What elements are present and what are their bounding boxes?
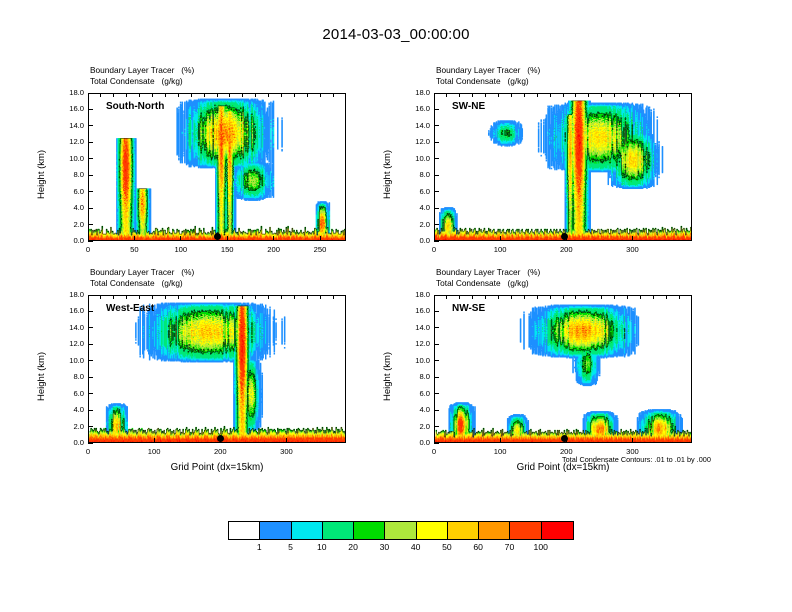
x-minor-tick-mark <box>307 295 308 299</box>
x-minor-tick-mark <box>601 93 602 97</box>
y-tick-label: 6.0 <box>400 389 430 398</box>
colorbar-cell <box>510 522 541 539</box>
x-minor-tick-mark <box>627 93 628 97</box>
center-point-marker-south-north <box>214 233 221 240</box>
x-minor-tick-mark <box>178 295 179 299</box>
x-minor-tick-mark <box>320 295 321 299</box>
x-tick-mark <box>134 236 135 241</box>
field-canvas-west-east <box>89 296 346 443</box>
plot-area-nw-se <box>434 295 692 443</box>
colorbar-cell <box>354 522 385 539</box>
x-minor-tick-mark <box>165 93 166 97</box>
x-minor-tick-mark <box>640 93 641 97</box>
x-minor-tick-mark <box>653 93 654 97</box>
x-minor-tick-mark <box>524 93 525 97</box>
colorbar-cell <box>229 522 260 539</box>
y-tick-mark <box>434 125 439 126</box>
x-minor-tick-mark <box>614 93 615 97</box>
header-tracer-line: Boundary Layer Tracer (%) <box>436 267 540 278</box>
y-tick-mark <box>88 109 93 110</box>
x-tick-label: 100 <box>161 245 201 254</box>
x-tick-mark <box>632 438 633 443</box>
x-minor-tick-mark <box>563 93 564 97</box>
x-minor-tick-mark <box>100 295 101 299</box>
x-minor-tick-mark <box>204 93 205 97</box>
x-minor-tick-mark <box>498 295 499 299</box>
y-tick-mark <box>88 410 93 411</box>
x-minor-tick-mark <box>537 295 538 299</box>
y-tick-mark <box>88 93 93 94</box>
x-minor-tick-mark <box>537 93 538 97</box>
x-minor-tick-mark <box>472 93 473 97</box>
x-minor-tick-mark <box>472 295 473 299</box>
x-minor-tick-mark <box>255 295 256 299</box>
x-minor-tick-mark <box>679 295 680 299</box>
x-tick-label: 150 <box>207 245 247 254</box>
center-point-marker-west-east <box>217 435 224 442</box>
y-tick-label: 6.0 <box>54 389 84 398</box>
contour-note: Total Condensate Contours: .01 to .01 by… <box>562 455 711 464</box>
x-minor-tick-mark <box>217 295 218 299</box>
colorbar-cell <box>417 522 448 539</box>
y-tick-mark <box>434 142 439 143</box>
y-tick-label: 12.0 <box>54 137 84 146</box>
y-tick-label: 4.0 <box>54 405 84 414</box>
x-tick-label: 50 <box>114 245 154 254</box>
x-tick-mark <box>566 236 567 241</box>
y-tick-mark <box>434 93 439 94</box>
y-tick-mark <box>434 175 439 176</box>
x-minor-tick-mark <box>229 295 230 299</box>
y-tick-label: 6.0 <box>400 187 430 196</box>
y-tick-label: 16.0 <box>400 104 430 113</box>
colorbar-cell <box>448 522 479 539</box>
panel-header-west-east: Boundary Layer Tracer (%)Total Condensat… <box>90 267 194 288</box>
x-minor-tick-mark <box>165 295 166 299</box>
x-minor-tick-mark <box>268 295 269 299</box>
y-tick-mark <box>434 295 439 296</box>
x-tick-label: 0 <box>68 447 108 456</box>
x-tick-mark <box>220 438 221 443</box>
header-tracer-line: Boundary Layer Tracer (%) <box>90 267 194 278</box>
colorbar-tick-label: 100 <box>521 542 561 552</box>
y-tick-label: 2.0 <box>400 422 430 431</box>
y-tick-label: 10.0 <box>54 154 84 163</box>
x-minor-tick-mark <box>575 295 576 299</box>
x-tick-mark <box>88 438 89 443</box>
y-tick-mark <box>88 393 93 394</box>
x-minor-tick-mark <box>601 295 602 299</box>
y-tick-label: 18.0 <box>400 290 430 299</box>
x-tick-mark <box>434 236 435 241</box>
x-minor-tick-mark <box>139 295 140 299</box>
x-axis-title: Grid Point (dx=15km) <box>88 462 346 473</box>
y-tick-label: 10.0 <box>400 356 430 365</box>
y-tick-label: 0.0 <box>54 438 84 447</box>
y-tick-mark <box>88 327 93 328</box>
colorbar-cell <box>479 522 510 539</box>
header-tracer-line: Boundary Layer Tracer (%) <box>90 65 194 76</box>
x-minor-tick-mark <box>614 295 615 299</box>
direction-label-west-east: West-East <box>106 303 154 314</box>
x-minor-tick-mark <box>485 295 486 299</box>
x-minor-tick-mark <box>446 295 447 299</box>
x-tick-label: 100 <box>480 447 520 456</box>
x-minor-tick-mark <box>255 93 256 97</box>
y-tick-label: 18.0 <box>54 88 84 97</box>
x-minor-tick-mark <box>459 295 460 299</box>
x-minor-tick-mark <box>588 295 589 299</box>
y-tick-mark <box>88 443 93 444</box>
x-minor-tick-mark <box>679 93 680 97</box>
x-tick-mark <box>286 438 287 443</box>
y-tick-mark <box>88 191 93 192</box>
header-condensate-line: Total Condensate (g/kg) <box>90 76 194 87</box>
colorbar-cell <box>542 522 573 539</box>
y-tick-label: 6.0 <box>54 187 84 196</box>
header-tracer-line: Boundary Layer Tracer (%) <box>436 65 540 76</box>
x-minor-tick-mark <box>139 93 140 97</box>
x-tick-label: 200 <box>546 245 586 254</box>
y-tick-label: 4.0 <box>400 203 430 212</box>
x-tick-mark <box>273 236 274 241</box>
colorbar-cell <box>385 522 416 539</box>
x-minor-tick-mark <box>126 93 127 97</box>
y-tick-label: 14.0 <box>400 121 430 130</box>
y-tick-mark <box>88 311 93 312</box>
y-tick-mark <box>434 158 439 159</box>
x-minor-tick-mark <box>178 93 179 97</box>
x-tick-mark <box>566 438 567 443</box>
x-tick-mark <box>180 236 181 241</box>
x-minor-tick-mark <box>588 93 589 97</box>
x-minor-tick-mark <box>498 93 499 97</box>
y-tick-mark <box>88 142 93 143</box>
direction-label-sw-ne: SW-NE <box>452 101 485 112</box>
field-canvas-nw-se <box>435 296 692 443</box>
y-tick-mark <box>88 125 93 126</box>
y-axis-title: Height (km) <box>36 352 47 401</box>
y-tick-mark <box>434 426 439 427</box>
x-tick-label: 200 <box>254 245 294 254</box>
y-tick-label: 10.0 <box>54 356 84 365</box>
field-canvas-sw-ne <box>435 94 692 241</box>
plot-area-west-east <box>88 295 346 443</box>
y-tick-mark <box>88 360 93 361</box>
y-axis-title: Height (km) <box>36 150 47 199</box>
y-tick-label: 12.0 <box>400 339 430 348</box>
x-tick-mark <box>500 438 501 443</box>
y-tick-label: 8.0 <box>54 372 84 381</box>
x-minor-tick-mark <box>113 93 114 97</box>
y-tick-label: 10.0 <box>400 154 430 163</box>
x-tick-mark <box>227 236 228 241</box>
x-minor-tick-mark <box>294 93 295 97</box>
y-tick-mark <box>434 208 439 209</box>
y-tick-label: 0.0 <box>54 236 84 245</box>
colorbar-cell <box>292 522 323 539</box>
y-tick-label: 12.0 <box>54 339 84 348</box>
x-tick-mark <box>500 236 501 241</box>
x-minor-tick-mark <box>307 93 308 97</box>
x-tick-mark <box>434 438 435 443</box>
x-minor-tick-mark <box>126 295 127 299</box>
figure-title: 2014-03-03_00:00:00 <box>0 26 792 43</box>
y-tick-mark <box>434 360 439 361</box>
x-minor-tick-mark <box>511 93 512 97</box>
x-minor-tick-mark <box>100 93 101 97</box>
y-axis-title: Height (km) <box>382 150 393 199</box>
direction-label-south-north: South-North <box>106 101 164 112</box>
y-tick-label: 2.0 <box>54 220 84 229</box>
x-tick-label: 200 <box>200 447 240 456</box>
x-minor-tick-mark <box>268 93 269 97</box>
x-minor-tick-mark <box>485 93 486 97</box>
y-tick-label: 18.0 <box>54 290 84 299</box>
y-tick-mark <box>434 241 439 242</box>
x-tick-label: 0 <box>414 447 454 456</box>
y-tick-label: 0.0 <box>400 236 430 245</box>
y-tick-mark <box>434 327 439 328</box>
x-tick-label: 100 <box>480 245 520 254</box>
x-minor-tick-mark <box>217 93 218 97</box>
x-minor-tick-mark <box>152 295 153 299</box>
x-minor-tick-mark <box>640 295 641 299</box>
x-tick-mark <box>632 236 633 241</box>
x-minor-tick-mark <box>627 295 628 299</box>
x-minor-tick-mark <box>653 295 654 299</box>
y-tick-label: 8.0 <box>400 372 430 381</box>
x-tick-label: 250 <box>300 245 340 254</box>
x-minor-tick-mark <box>446 93 447 97</box>
y-tick-mark <box>434 311 439 312</box>
y-tick-label: 14.0 <box>54 121 84 130</box>
x-minor-tick-mark <box>242 295 243 299</box>
header-condensate-line: Total Condensate (g/kg) <box>436 76 540 87</box>
x-minor-tick-mark <box>575 93 576 97</box>
y-axis-title: Height (km) <box>382 352 393 401</box>
y-tick-label: 16.0 <box>54 104 84 113</box>
y-tick-label: 2.0 <box>54 422 84 431</box>
x-tick-label: 0 <box>414 245 454 254</box>
x-minor-tick-mark <box>320 93 321 97</box>
y-tick-mark <box>434 109 439 110</box>
y-tick-label: 16.0 <box>54 306 84 315</box>
x-minor-tick-mark <box>666 93 667 97</box>
y-tick-label: 4.0 <box>54 203 84 212</box>
x-minor-tick-mark <box>459 93 460 97</box>
y-tick-mark <box>88 158 93 159</box>
header-condensate-line: Total Condensate (g/kg) <box>436 278 540 289</box>
y-tick-label: 8.0 <box>400 170 430 179</box>
x-tick-label: 300 <box>266 447 306 456</box>
x-minor-tick-mark <box>281 295 282 299</box>
x-minor-tick-mark <box>524 295 525 299</box>
x-minor-tick-mark <box>281 93 282 97</box>
center-point-marker-nw-se <box>561 435 568 442</box>
y-tick-mark <box>434 377 439 378</box>
plot-area-sw-ne <box>434 93 692 241</box>
center-point-marker-sw-ne <box>561 233 568 240</box>
y-tick-label: 14.0 <box>400 323 430 332</box>
x-tick-mark <box>154 438 155 443</box>
figure-root: 2014-03-03_00:00:00 Boundary Layer Trace… <box>0 0 792 612</box>
colorbar-cell <box>323 522 354 539</box>
x-minor-tick-mark <box>191 93 192 97</box>
x-minor-tick-mark <box>113 295 114 299</box>
x-minor-tick-mark <box>333 93 334 97</box>
colorbar-cell <box>260 522 291 539</box>
panel-header-nw-se: Boundary Layer Tracer (%)Total Condensat… <box>436 267 540 288</box>
y-tick-mark <box>434 344 439 345</box>
x-minor-tick-mark <box>563 295 564 299</box>
y-tick-label: 2.0 <box>400 220 430 229</box>
y-tick-mark <box>434 191 439 192</box>
y-tick-mark <box>88 175 93 176</box>
y-tick-label: 18.0 <box>400 88 430 97</box>
y-tick-mark <box>434 393 439 394</box>
y-tick-label: 0.0 <box>400 438 430 447</box>
x-minor-tick-mark <box>242 93 243 97</box>
colorbar-strip <box>228 521 574 540</box>
y-tick-mark <box>88 344 93 345</box>
x-minor-tick-mark <box>229 93 230 97</box>
panel-header-sw-ne: Boundary Layer Tracer (%)Total Condensat… <box>436 65 540 86</box>
x-minor-tick-mark <box>550 93 551 97</box>
header-condensate-line: Total Condensate (g/kg) <box>90 278 194 289</box>
y-tick-mark <box>434 443 439 444</box>
x-tick-label: 0 <box>68 245 108 254</box>
y-tick-label: 12.0 <box>400 137 430 146</box>
x-minor-tick-mark <box>152 93 153 97</box>
y-tick-label: 8.0 <box>54 170 84 179</box>
x-minor-tick-mark <box>191 295 192 299</box>
y-tick-label: 16.0 <box>400 306 430 315</box>
y-tick-mark <box>88 208 93 209</box>
y-tick-mark <box>88 224 93 225</box>
x-minor-tick-mark <box>550 295 551 299</box>
x-minor-tick-mark <box>294 295 295 299</box>
y-tick-label: 14.0 <box>54 323 84 332</box>
y-tick-mark <box>88 426 93 427</box>
panel-header-south-north: Boundary Layer Tracer (%)Total Condensat… <box>90 65 194 86</box>
x-tick-mark <box>88 236 89 241</box>
x-tick-label: 300 <box>612 245 652 254</box>
field-canvas-south-north <box>89 94 346 241</box>
y-tick-mark <box>88 377 93 378</box>
y-tick-label: 4.0 <box>400 405 430 414</box>
y-tick-mark <box>434 224 439 225</box>
x-tick-label: 100 <box>134 447 174 456</box>
y-tick-mark <box>434 410 439 411</box>
plot-area-south-north <box>88 93 346 241</box>
x-minor-tick-mark <box>333 295 334 299</box>
y-tick-mark <box>88 295 93 296</box>
x-minor-tick-mark <box>204 295 205 299</box>
x-minor-tick-mark <box>666 295 667 299</box>
y-tick-mark <box>88 241 93 242</box>
x-tick-mark <box>320 236 321 241</box>
x-minor-tick-mark <box>511 295 512 299</box>
direction-label-nw-se: NW-SE <box>452 303 485 314</box>
